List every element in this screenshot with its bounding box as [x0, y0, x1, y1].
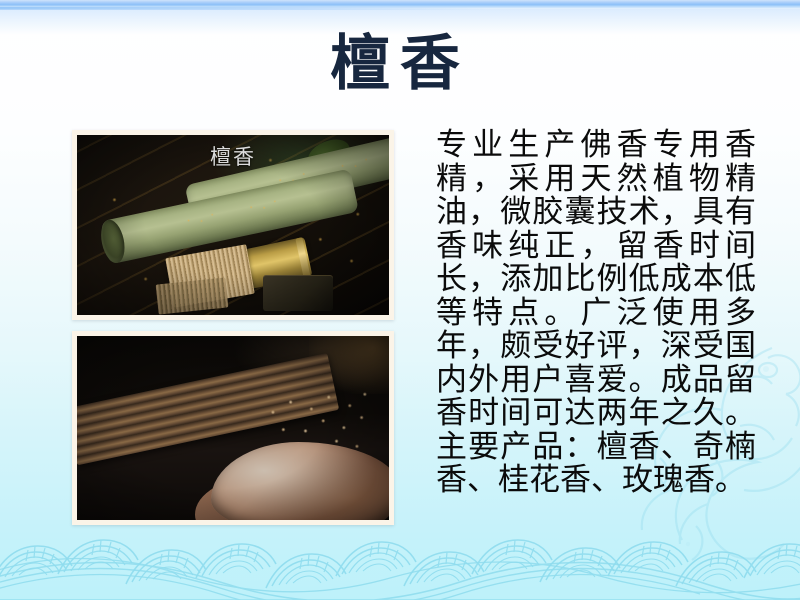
photo2-vignette	[77, 336, 389, 520]
body-paragraph: 专业生产佛香专用香精，采用天然植物精油，微胶囊技术，具有香味纯正，留香时间长，添…	[436, 128, 756, 497]
photo-brown-incense-sticks[interactable]	[72, 331, 394, 525]
photo1-caption-watermark: 檀香	[77, 145, 389, 171]
slide-canvas: 檀香 檀香	[0, 0, 800, 600]
photo-brown-incense-sticks-image	[77, 336, 389, 520]
photo-green-incense-tubes-image: 檀香	[77, 135, 389, 315]
page-title: 檀香	[0, 26, 800, 102]
photo-green-incense-tubes[interactable]: 檀香	[72, 130, 394, 320]
wave-pattern	[0, 520, 800, 600]
